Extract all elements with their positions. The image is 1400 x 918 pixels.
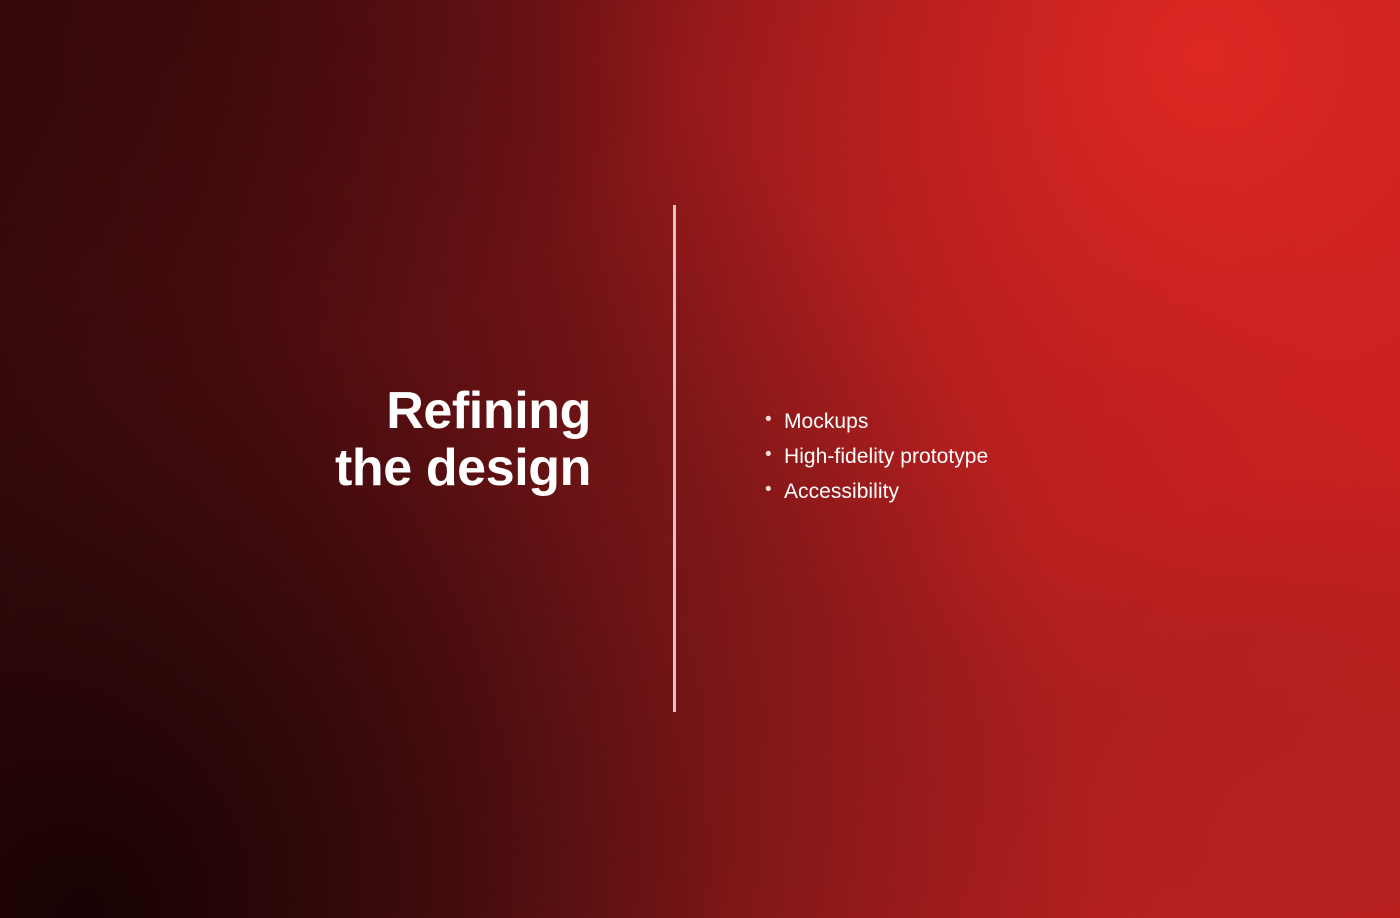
list-item: • Mockups: [765, 408, 988, 443]
bullet-dot-icon: •: [765, 445, 784, 464]
slide-title-line-1: Refining: [0, 383, 591, 440]
bullet-dot-icon: •: [765, 480, 784, 499]
bullet-dot-icon: •: [765, 410, 784, 429]
bullet-label: Mockups: [784, 408, 868, 436]
list-item: • High-fidelity prototype: [765, 443, 988, 478]
bullet-list: • Mockups • High-fidelity prototype • Ac…: [765, 408, 988, 513]
slide-title-line-2: the design: [0, 440, 591, 497]
presentation-slide: Refining the design • Mockups • High-fid…: [0, 0, 1400, 918]
bullet-label: High-fidelity prototype: [784, 443, 988, 471]
bullet-label: Accessibility: [784, 478, 899, 506]
list-item: • Accessibility: [765, 478, 988, 513]
vertical-divider-rule: [673, 205, 676, 712]
slide-title: Refining the design: [0, 383, 591, 497]
